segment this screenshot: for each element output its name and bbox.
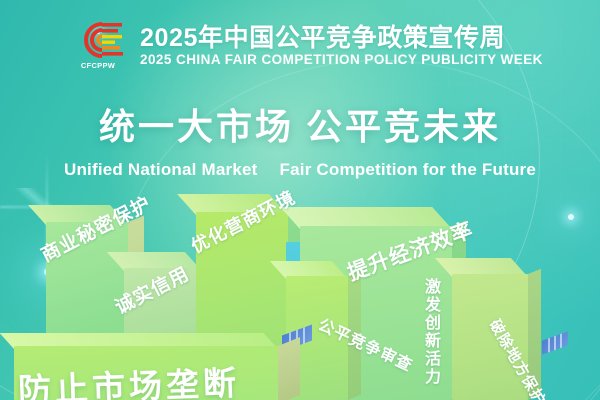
block-side-face — [278, 337, 300, 400]
poster-slogan: 统一大市场 公平竞未来 Unified National MarketFair … — [0, 98, 600, 180]
header-title-en: 2025 CHINA FAIR COMPETITION POLICY PUBLI… — [140, 53, 543, 67]
solar-panel-icon — [542, 331, 568, 354]
slogan-cn: 统一大市场 公平竞未来 — [0, 98, 600, 150]
slogan-en-right: Fair Competition for the Future — [280, 160, 536, 179]
header-title-cn: 2025年中国公平竞争政策宣传周 — [140, 25, 543, 51]
cfcppw-logo: CFCPPW — [70, 20, 126, 72]
slogan-en: Unified National MarketFair Competition … — [0, 160, 600, 180]
block-label-innovation-vitality: 激发创新活力 — [418, 278, 442, 386]
cfcppw-logo-icon — [72, 20, 124, 60]
header-titles: 2025年中国公平竞争政策宣传周 2025 CHINA FAIR COMPETI… — [140, 25, 543, 67]
poster-canvas: CFCPPW 2025年中国公平竞争政策宣传周 2025 CHINA FAIR … — [0, 0, 600, 400]
logo-wordmark: CFCPPW — [81, 61, 115, 70]
poster-header: CFCPPW 2025年中国公平竞争政策宣传周 2025 CHINA FAIR … — [70, 20, 543, 72]
slogan-en-left: Unified National Market — [64, 160, 258, 179]
block-city-illustration: 商业秘密保护 诚实信用 优化营商环境 防止市场垄断 提升经济效率 公平竞争审查 … — [0, 150, 600, 400]
block-label-prevent-monopoly: 防止市场垄断 — [17, 356, 241, 400]
